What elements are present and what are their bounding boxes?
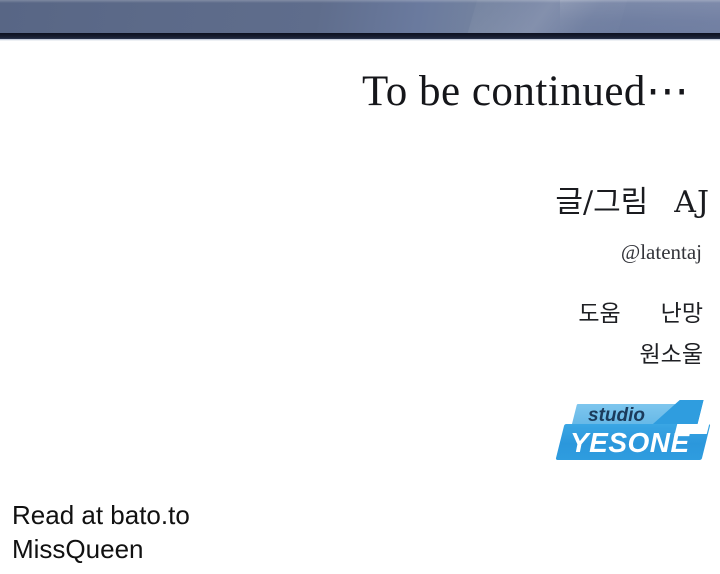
to-be-continued-text: To be continued⋯ bbox=[362, 70, 718, 113]
help-name-2: 원소울 bbox=[640, 342, 703, 368]
logo-brand-text: YESONE bbox=[570, 426, 700, 459]
site-watermark: Read at bato.to MissQueen bbox=[12, 498, 190, 566]
help-credit-line-2: 원소울 bbox=[470, 344, 703, 367]
author-role-label: 글/그림 bbox=[555, 185, 648, 220]
author-credit-line: 글/그림AJ bbox=[470, 188, 710, 218]
watermark-line-2: MissQueen bbox=[12, 532, 190, 566]
panel-top-highlight bbox=[0, 0, 720, 3]
help-name-1: 난망 bbox=[661, 301, 703, 327]
logo-studio-text: studio bbox=[588, 404, 688, 428]
panel-diagonal-sheen bbox=[454, 0, 636, 34]
studio-yesone-logo: studio YESONE bbox=[558, 398, 708, 466]
panel-right-sheen bbox=[560, 0, 720, 34]
comic-panel-strip bbox=[0, 0, 720, 34]
help-role-label: 도움 bbox=[578, 301, 660, 327]
comic-page: To be continued⋯ 글/그림AJ @latentaj 도움난망 원… bbox=[0, 0, 720, 574]
help-credit-line: 도움난망 bbox=[470, 303, 703, 326]
watermark-line-1: Read at bato.to bbox=[12, 498, 190, 532]
author-handle: @latentaj bbox=[470, 240, 702, 265]
author-name: AJ bbox=[648, 185, 710, 220]
panel-gutter-edge bbox=[0, 39, 720, 41]
